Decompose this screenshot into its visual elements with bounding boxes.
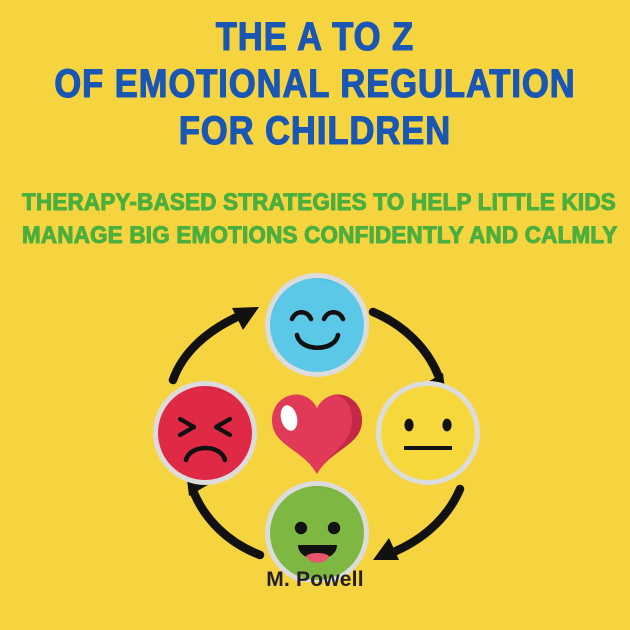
angry-face: [153, 381, 285, 496]
title-line-2: OF EMOTIONAL REGULATION: [44, 61, 586, 108]
book-cover: THE A TO Z OF EMOTIONAL REGULATION FOR C…: [0, 0, 630, 630]
arrow-neutral-to-grinning: [373, 489, 460, 560]
author-name: M. Powell: [0, 568, 630, 592]
subtitle-line-1: THERAPY-BASED STRATEGIES TO HELP LITTLE …: [22, 186, 608, 219]
eye-right: [328, 522, 340, 534]
emotion-cycle-diagram: [0, 262, 630, 582]
arrow-angry-to-smiling: [173, 307, 259, 380]
title-line-1: THE A TO Z: [44, 14, 586, 61]
eye-left: [295, 522, 307, 534]
eye-right: [442, 419, 451, 432]
neutral-face: [376, 381, 500, 497]
subtitle-line-2: MANAGE BIG EMOTIONS CONFIDENTLY AND CALM…: [22, 219, 608, 252]
book-subtitle: THERAPY-BASED STRATEGIES TO HELP LITTLE …: [0, 186, 630, 252]
smiling-face: [265, 262, 402, 387]
grinning-face: [265, 481, 400, 582]
eye-left: [404, 419, 413, 432]
heart-icon: [272, 394, 362, 474]
title-line-3: FOR CHILDREN: [44, 108, 586, 155]
book-title: THE A TO Z OF EMOTIONAL REGULATION FOR C…: [0, 14, 630, 155]
